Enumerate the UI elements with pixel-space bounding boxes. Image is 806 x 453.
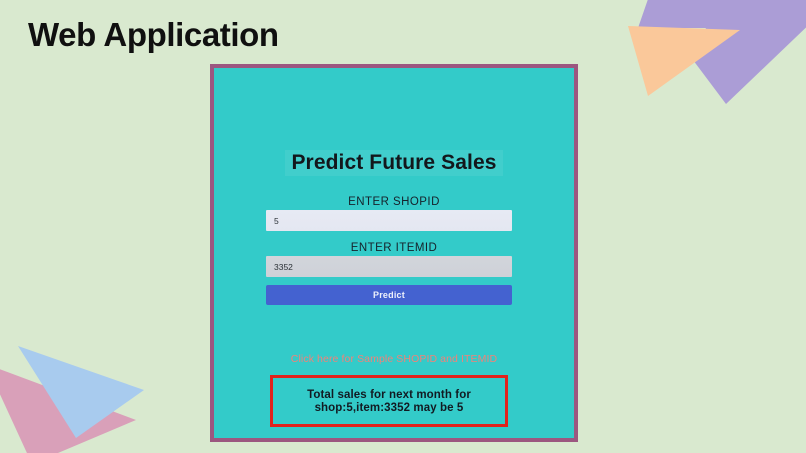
result-line-2: shop:5,item:3352 may be 5 (315, 402, 464, 414)
result-line-1: Total sales for next month for (307, 389, 471, 401)
web-app-panel: Predict Future Sales ENTER SHOPID ENTER … (210, 64, 578, 442)
prediction-result-box: Total sales for next month for shop:5,it… (270, 375, 508, 427)
page-title: Web Application (28, 16, 279, 54)
app-heading-text: Predict Future Sales (285, 150, 502, 176)
purple-chevron-shape (608, 0, 806, 104)
predict-button[interactable]: Predict (266, 285, 512, 305)
app-heading: Predict Future Sales (214, 150, 574, 176)
shopid-input[interactable] (266, 210, 512, 231)
itemid-label: ENTER ITEMID (214, 242, 574, 254)
sample-shopid-itemid-link[interactable]: Click here for Sample SHOPID and ITEMID (214, 353, 574, 365)
orange-triangle-shape (624, 18, 740, 96)
pink-triangle-shape (0, 364, 136, 453)
blue-triangle-shape (12, 342, 144, 438)
itemid-input[interactable] (266, 256, 512, 277)
shopid-label: ENTER SHOPID (214, 196, 574, 208)
slide-canvas: Web Application Predict Future Sales ENT… (0, 0, 806, 453)
